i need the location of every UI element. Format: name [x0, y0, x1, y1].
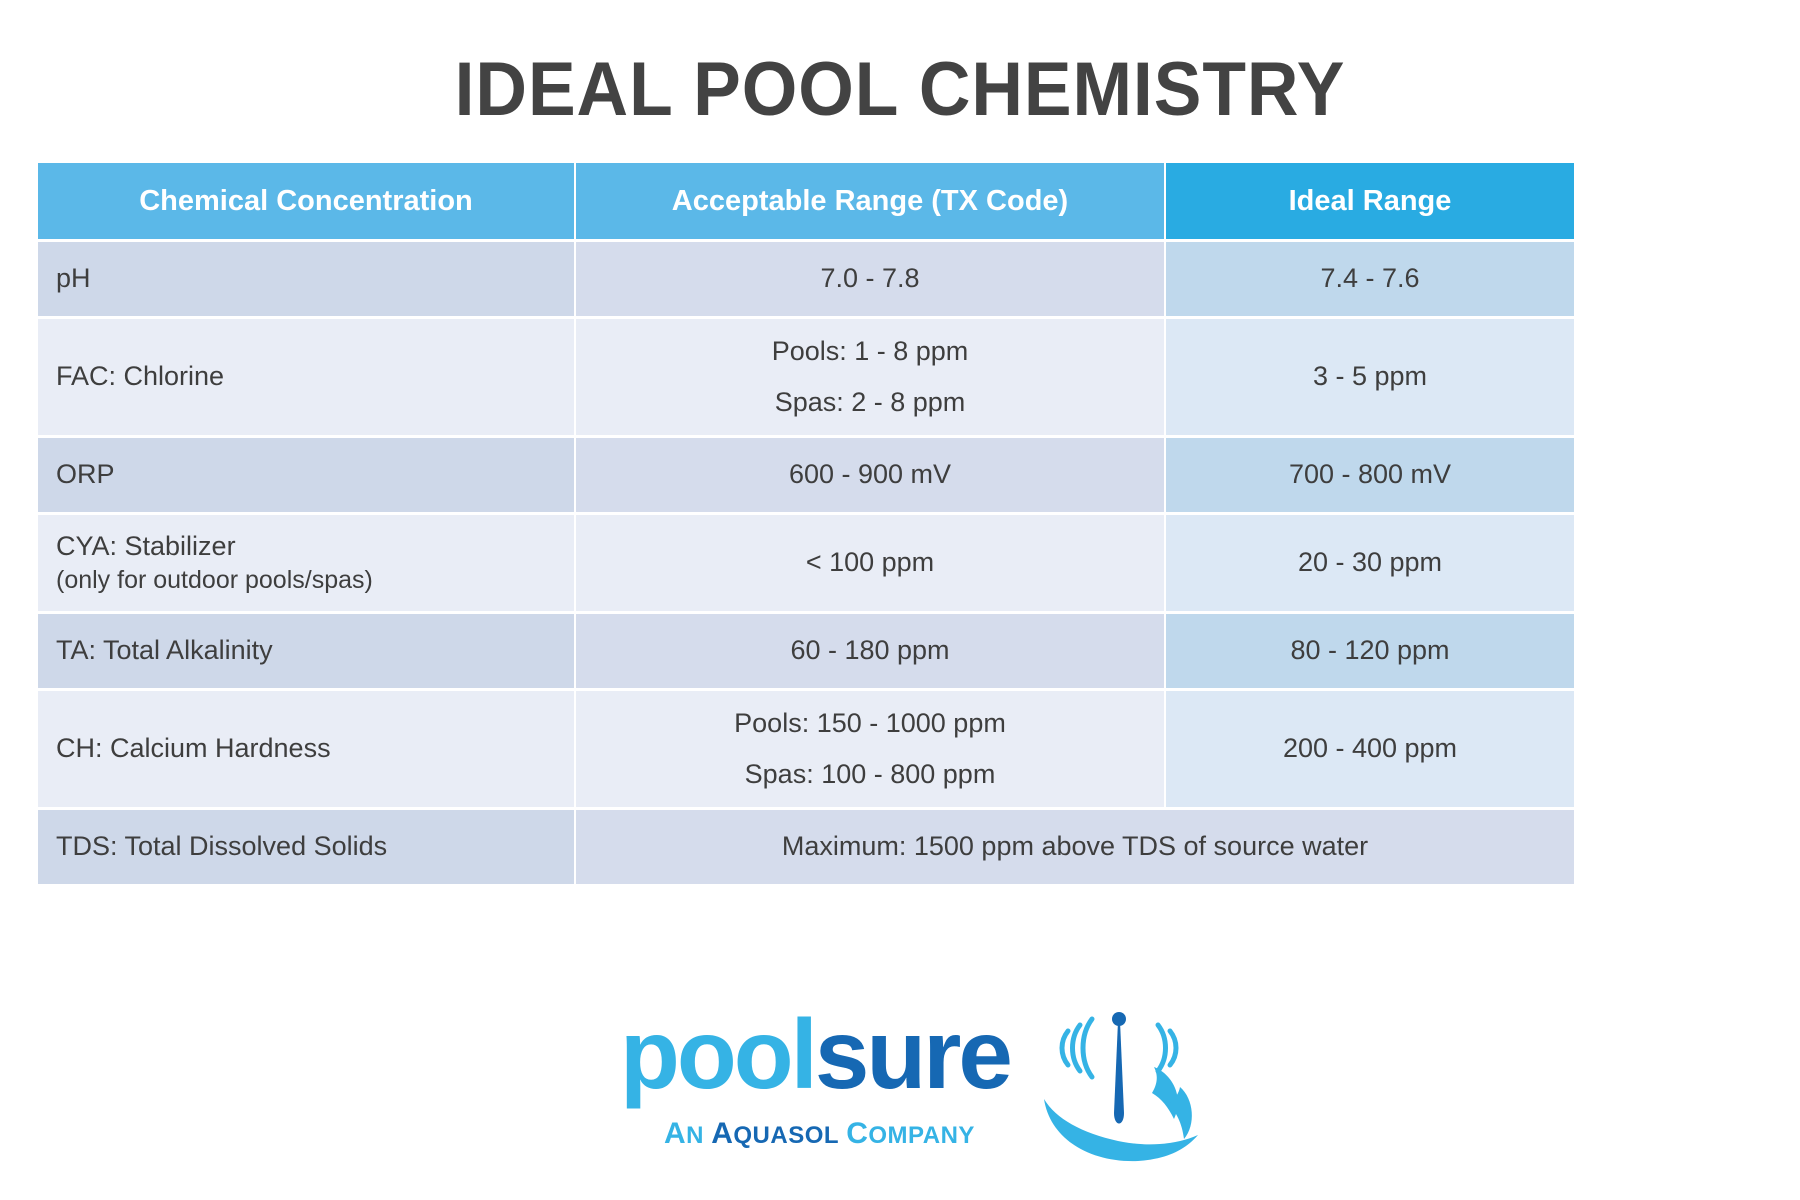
table-row: CYA: Stabilizer (only for outdoor pools/…: [38, 515, 1574, 611]
table-header-row: Chemical Concentration Acceptable Range …: [38, 163, 1574, 239]
acceptable-line-1: 60 - 180 ppm: [594, 633, 1146, 668]
acceptable-line-1: 7.0 - 7.8: [594, 261, 1146, 296]
infographic-page: IDEAL POOL CHEMISTRY Chemical Concentrat…: [0, 0, 1800, 1200]
acceptable-line-1: 600 - 900 mV: [594, 457, 1146, 492]
table-row: pH 7.0 - 7.8 7.4 - 7.6: [38, 242, 1574, 316]
acceptable-range-ta: 60 - 180 ppm: [576, 614, 1164, 688]
probe-and-water-splash-icon: [1034, 995, 1204, 1170]
table-row: ORP 600 - 900 mV 700 - 800 mV: [38, 438, 1574, 512]
row-label-text: TA: Total Alkalinity: [56, 633, 556, 668]
logo-word-pool: pool: [620, 999, 815, 1109]
pool-chemistry-table: Chemical Concentration Acceptable Range …: [36, 160, 1576, 887]
row-label-cya-stabilizer: CYA: Stabilizer (only for outdoor pools/…: [38, 515, 574, 611]
acceptable-line-1: < 100 ppm: [594, 545, 1146, 580]
row-label-text: TDS: Total Dissolved Solids: [56, 829, 556, 864]
poolsure-logo: poolsure AN AQUASOL COMPANY: [0, 995, 1800, 1185]
row-label-ph: pH: [38, 242, 574, 316]
ideal-range-ta: 80 - 120 ppm: [1166, 614, 1574, 688]
table-body: pH 7.0 - 7.8 7.4 - 7.6 FAC: Chlorine Poo…: [38, 242, 1574, 884]
table-row: FAC: Chlorine Pools: 1 - 8 ppm Spas: 2 -…: [38, 319, 1574, 435]
row-label-text: FAC: Chlorine: [56, 359, 556, 394]
tagline-part: QUASOL: [733, 1122, 839, 1149]
acceptable-range-fac-chlorine: Pools: 1 - 8 ppm Spas: 2 - 8 ppm: [576, 319, 1164, 435]
logo-tagline: AN AQUASOL COMPANY: [664, 1117, 975, 1151]
row-label-note: (only for outdoor pools/spas): [56, 564, 556, 597]
ideal-range-fac-chlorine: 3 - 5 ppm: [1166, 319, 1574, 435]
ideal-range-ph: 7.4 - 7.6: [1166, 242, 1574, 316]
page-title: IDEAL POOL CHEMISTRY: [54, 46, 1746, 133]
row-label-ch-calcium-hardness: CH: Calcium Hardness: [38, 691, 574, 807]
acceptable-range-ch: Pools: 150 - 1000 ppm Spas: 100 - 800 pp…: [576, 691, 1164, 807]
logo-word-sure: sure: [815, 999, 1010, 1109]
ideal-range-orp: 700 - 800 mV: [1166, 438, 1574, 512]
logo-inner: poolsure AN AQUASOL COMPANY: [620, 995, 1180, 1175]
row-label-tds-total-dissolved-solids: TDS: Total Dissolved Solids: [38, 810, 574, 884]
tagline-part: C: [846, 1117, 868, 1150]
table-header: Chemical Concentration Acceptable Range …: [38, 163, 1574, 239]
acceptable-line-1: Pools: 150 - 1000 ppm: [594, 706, 1146, 741]
row-label-ta-total-alkalinity: TA: Total Alkalinity: [38, 614, 574, 688]
ideal-range-ch: 200 - 400 ppm: [1166, 691, 1574, 807]
table-row: TA: Total Alkalinity 60 - 180 ppm 80 - 1…: [38, 614, 1574, 688]
tagline-part: OMPANY: [868, 1122, 975, 1149]
ideal-range-cya: 20 - 30 ppm: [1166, 515, 1574, 611]
acceptable-line-1: Pools: 1 - 8 ppm: [594, 334, 1146, 369]
row-label-text: pH: [56, 261, 556, 296]
column-header-acceptable-range: Acceptable Range (TX Code): [576, 163, 1164, 239]
row-label-orp: ORP: [38, 438, 574, 512]
pool-chemistry-table-container: Chemical Concentration Acceptable Range …: [36, 160, 1568, 887]
table-row: TDS: Total Dissolved Solids Maximum: 150…: [38, 810, 1574, 884]
table-row: CH: Calcium Hardness Pools: 150 - 1000 p…: [38, 691, 1574, 807]
row-label-fac-chlorine: FAC: Chlorine: [38, 319, 574, 435]
row-label-text: CYA: Stabilizer: [56, 529, 556, 564]
column-header-ideal-range: Ideal Range: [1166, 163, 1574, 239]
logo-wordmark: poolsure: [620, 1005, 1010, 1103]
row-label-text: CH: Calcium Hardness: [56, 731, 556, 766]
acceptable-range-orp: 600 - 900 mV: [576, 438, 1164, 512]
tagline-part: A: [664, 1117, 686, 1150]
acceptable-range-cya: < 100 ppm: [576, 515, 1164, 611]
row-label-text: ORP: [56, 457, 556, 492]
column-header-chemical-concentration: Chemical Concentration: [38, 163, 574, 239]
tds-spanned-value: Maximum: 1500 ppm above TDS of source wa…: [576, 810, 1574, 884]
tagline-part: A: [711, 1117, 733, 1150]
acceptable-range-ph: 7.0 - 7.8: [576, 242, 1164, 316]
acceptable-line-2: Spas: 2 - 8 ppm: [594, 385, 1146, 420]
acceptable-line-2: Spas: 100 - 800 ppm: [594, 757, 1146, 792]
tagline-part: N: [686, 1122, 704, 1149]
